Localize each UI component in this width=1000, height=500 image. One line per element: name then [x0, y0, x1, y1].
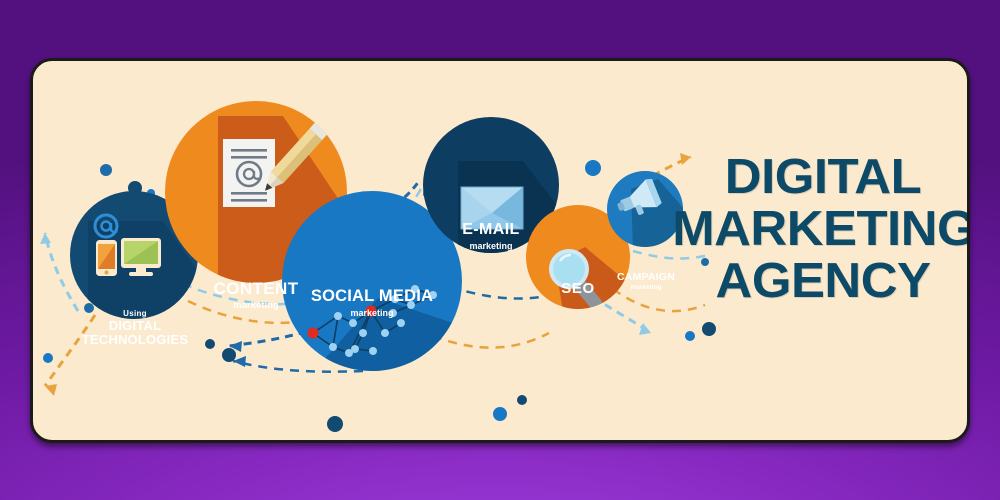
page-title: DIGITAL MARKETING AGENCY	[672, 151, 970, 307]
title-line-2: MARKETING	[672, 203, 970, 255]
document-icon	[223, 139, 275, 207]
infographic-card: Using DIGITAL TECHNOLOGIES CONTENT marke…	[30, 58, 970, 443]
page-root: Using DIGITAL TECHNOLOGIES CONTENT marke…	[0, 0, 1000, 500]
title-line-1: DIGITAL	[672, 151, 970, 203]
smartphone-icon	[96, 240, 117, 276]
title-line-3: AGENCY	[672, 255, 970, 307]
infographic-stage: Using DIGITAL TECHNOLOGIES CONTENT marke…	[33, 61, 967, 440]
envelope-icon	[461, 187, 523, 229]
